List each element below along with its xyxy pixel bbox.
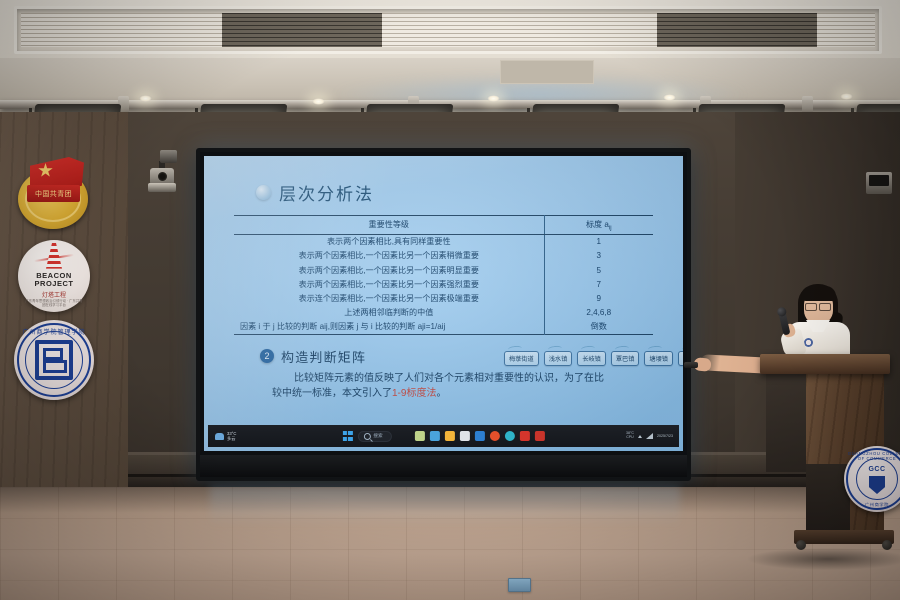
taskbar-weather-widget[interactable]: 33°C 多云 bbox=[215, 431, 236, 442]
emblem-plaque-text: 中国共青团 bbox=[27, 185, 80, 202]
weather-desc: 多云 bbox=[227, 436, 235, 441]
app-calculator-icon[interactable] bbox=[415, 431, 425, 441]
table-row: 因素 i 于 j 比较的判断 aij,则因素 j 与 i 比较的判断 aji=1… bbox=[234, 320, 653, 335]
row-value: 5 bbox=[544, 263, 653, 277]
place-chip[interactable]: 曲镇 bbox=[678, 351, 683, 366]
row-description: 上述两相邻临判断的中值 bbox=[234, 306, 544, 320]
table-row: 表示两个因素相比,一个因素比另一个因素稍微重要 3 bbox=[234, 249, 653, 263]
place-chip[interactable]: 梅菉街道 bbox=[504, 351, 539, 366]
podium-side bbox=[766, 372, 808, 472]
app-edge-icon[interactable] bbox=[505, 431, 515, 441]
chevron-up-icon[interactable] bbox=[638, 435, 642, 438]
lecture-hall-photo: 中国共青团 BEACON PROJECT 灯塔工程 广东青年思想政治引领行动 ·… bbox=[0, 0, 900, 600]
place-chip[interactable]: 长岐镇 bbox=[577, 351, 606, 366]
beacon-title-en: BEACON PROJECT bbox=[35, 272, 74, 289]
table-row: 上述两相邻临判断的中值 2,4,6,8 bbox=[234, 306, 653, 320]
presentation-slide: 层次分析法 重要性等级 标度 aij 表示两个因素相比,具有同样重要性 1 bbox=[204, 156, 683, 451]
app-store-icon[interactable] bbox=[460, 431, 470, 441]
network-icon[interactable] bbox=[646, 433, 653, 439]
windows-taskbar[interactable]: 33°C 多云 搜索 bbox=[208, 425, 679, 447]
caster-wheel-icon bbox=[882, 540, 892, 550]
table-header-description: 重要性等级 bbox=[234, 216, 544, 235]
row-description: 表示连个因素相比,一个因素比另一个因素极端重要 bbox=[234, 291, 544, 305]
table-row: 表示连个因素相比,一个因素比另一个因素极端重要 9 bbox=[234, 291, 653, 305]
vent-open-section-left bbox=[222, 13, 382, 47]
row-value: 1 bbox=[544, 234, 653, 249]
seal-text-top: GUANGZHOU COLLEGE OF COMMERCE bbox=[844, 451, 900, 461]
interactive-display[interactable]: 层次分析法 重要性等级 标度 aij 表示两个因素相比,具有同样重要性 1 bbox=[196, 148, 691, 481]
taskbar-system-tray[interactable]: 38°C CPU 2025/7/23 bbox=[626, 432, 673, 440]
body-text-highlight: 1-9标度法 bbox=[392, 388, 436, 399]
table-header-scale: 标度 aij bbox=[544, 216, 653, 235]
taskbar-search-box[interactable]: 搜索 bbox=[357, 431, 391, 442]
polo-shirt-logo bbox=[804, 338, 813, 347]
row-value: 7 bbox=[544, 277, 653, 291]
slide-title: 层次分析法 bbox=[279, 180, 374, 205]
beacon-title-cn: 灯塔工程 bbox=[42, 290, 66, 299]
emblem-school-of-management: 广州商学院管理学院 bbox=[14, 320, 94, 400]
row-value: 倒数 bbox=[544, 320, 653, 335]
section-heading: 构造判断矩阵 bbox=[281, 347, 366, 366]
vent-open-section-right bbox=[657, 13, 817, 47]
row-description: 表示两个因素相比,具有同样重要性 bbox=[234, 234, 544, 249]
seal-monogram: GCC bbox=[844, 466, 900, 473]
ceiling-speaker-icon bbox=[160, 150, 177, 163]
weather-text: 33°C 多云 bbox=[227, 431, 236, 442]
app-task-view-icon[interactable] bbox=[430, 431, 440, 441]
app-wps-alt-icon[interactable] bbox=[535, 431, 545, 441]
row-description: 表示两个因素相比,一个因素比另一个因素明显重要 bbox=[234, 263, 544, 277]
cloud-icon bbox=[215, 433, 224, 440]
glasses-icon bbox=[805, 303, 831, 309]
row-value: 3 bbox=[544, 249, 653, 263]
beacon-subtitle: 广东青年思想政治引领行动 · 广东共青团在线学习平台 bbox=[24, 299, 84, 308]
lectern-podium: GUANGZHOU COLLEGE OF COMMERCE GCC 广州商学院 bbox=[766, 354, 884, 566]
windows-start-icon[interactable] bbox=[342, 431, 352, 441]
app-browser-icon[interactable] bbox=[490, 431, 500, 441]
app-mail-icon[interactable] bbox=[475, 431, 485, 441]
table-row: 表示两个因素相比,一个因素比另一个因素明显重要 5 bbox=[234, 263, 653, 277]
slide-bullet-icon bbox=[256, 185, 271, 200]
search-placeholder: 搜索 bbox=[373, 433, 382, 439]
row-description: 因素 i 于 j 比较的判断 aij,则因素 j 与 i 比较的判断 aji=1… bbox=[234, 320, 544, 335]
seal-monogram-icon bbox=[35, 340, 73, 380]
ceiling-downlight bbox=[139, 95, 152, 102]
section-number-badge: 2 bbox=[260, 349, 274, 363]
podium-top-surface bbox=[760, 354, 890, 374]
importance-scale-table: 重要性等级 标度 aij 表示两个因素相比,具有同样重要性 1 表示两个因素相比… bbox=[234, 215, 653, 340]
ceiling-access-panel bbox=[500, 60, 594, 84]
emblem-beacon-project: BEACON PROJECT 灯塔工程 广东青年思想政治引领行动 · 广东共青团… bbox=[18, 240, 90, 312]
place-chip[interactable]: 覃巴镇 bbox=[611, 351, 640, 366]
table-header-row: 重要性等级 标度 aij bbox=[234, 216, 653, 235]
floor-power-outlet bbox=[508, 578, 531, 592]
row-value: 9 bbox=[544, 291, 653, 305]
ptz-camera-icon bbox=[148, 168, 176, 194]
beacon-title-line2: PROJECT bbox=[35, 280, 74, 289]
section-body-text: 比较矩阵元素的值反映了人们对各个元素相对重要性的认识，为了在比较中统一标准，本文… bbox=[272, 371, 613, 402]
search-icon bbox=[363, 433, 370, 440]
cpu-temperature-indicator[interactable]: 38°C CPU bbox=[626, 432, 634, 440]
place-chip[interactable]: 浅水镇 bbox=[544, 351, 573, 366]
app-wps-icon[interactable] bbox=[520, 431, 530, 441]
podium-college-seal: GUANGZHOU COLLEGE OF COMMERCE GCC 广州商学院 bbox=[844, 446, 900, 512]
screen-surface[interactable]: 层次分析法 重要性等级 标度 aij 表示两个因素相比,具有同样重要性 1 bbox=[204, 156, 683, 451]
cpu-label: CPU bbox=[626, 435, 634, 439]
table-bottom-rule bbox=[234, 334, 653, 339]
screen-light-spill-floor bbox=[210, 487, 680, 527]
truss-clamp bbox=[802, 96, 813, 113]
body-text-after: 。 bbox=[436, 388, 446, 399]
presentation-clicker-icon bbox=[684, 362, 698, 368]
wall-speaker-icon bbox=[866, 172, 892, 194]
ceiling-downlight bbox=[840, 93, 853, 100]
row-description: 表示两个因素相比,一个因素比另一个因素强烈重要 bbox=[234, 277, 544, 291]
presenter-fringe bbox=[801, 286, 836, 301]
slide-title-row: 层次分析法 bbox=[256, 180, 669, 205]
display-bottom-bezel bbox=[200, 455, 687, 477]
ceiling-downlight bbox=[487, 95, 500, 102]
clock-date: 2025/7/23 bbox=[657, 434, 673, 438]
ceiling-downlight bbox=[663, 94, 676, 101]
air-conditioning-vent bbox=[14, 6, 882, 54]
table-row: 表示两个因素相比,一个因素比另一个因素强烈重要 7 bbox=[234, 277, 653, 291]
presenter bbox=[782, 282, 856, 362]
taskbar-app-icons bbox=[415, 431, 545, 441]
row-description: 表示两个因素相比,一个因素比另一个因素稍微重要 bbox=[234, 249, 544, 263]
table-body: 表示两个因素相比,具有同样重要性 1 表示两个因素相比,一个因素比另一个因素稍微… bbox=[234, 234, 653, 339]
app-file-explorer-icon[interactable] bbox=[445, 431, 455, 441]
caster-wheel-icon bbox=[796, 540, 806, 550]
place-name-chip-row: 梅菉街道 浅水镇 长岐镇 覃巴镇 塘㙘镇 曲镇 bbox=[504, 351, 683, 366]
weather-temp: 33°C bbox=[227, 431, 236, 436]
table-row: 表示两个因素相比,具有同样重要性 1 bbox=[234, 234, 653, 249]
seal-title-cn: 广州商学院管理学院 bbox=[14, 327, 94, 336]
seal-text-bottom: 广州商学院 bbox=[844, 502, 900, 508]
place-chip[interactable]: 塘㙘镇 bbox=[644, 351, 673, 366]
taskbar-clock[interactable]: 2025/7/23 bbox=[657, 434, 673, 438]
row-value: 2,4,6,8 bbox=[544, 306, 653, 320]
ceiling-downlight bbox=[312, 98, 325, 105]
taskbar-center-group: 搜索 bbox=[342, 431, 544, 442]
emblem-communist-youth-league: 中国共青团 bbox=[14, 155, 92, 231]
podium-rolling-base bbox=[794, 530, 894, 544]
